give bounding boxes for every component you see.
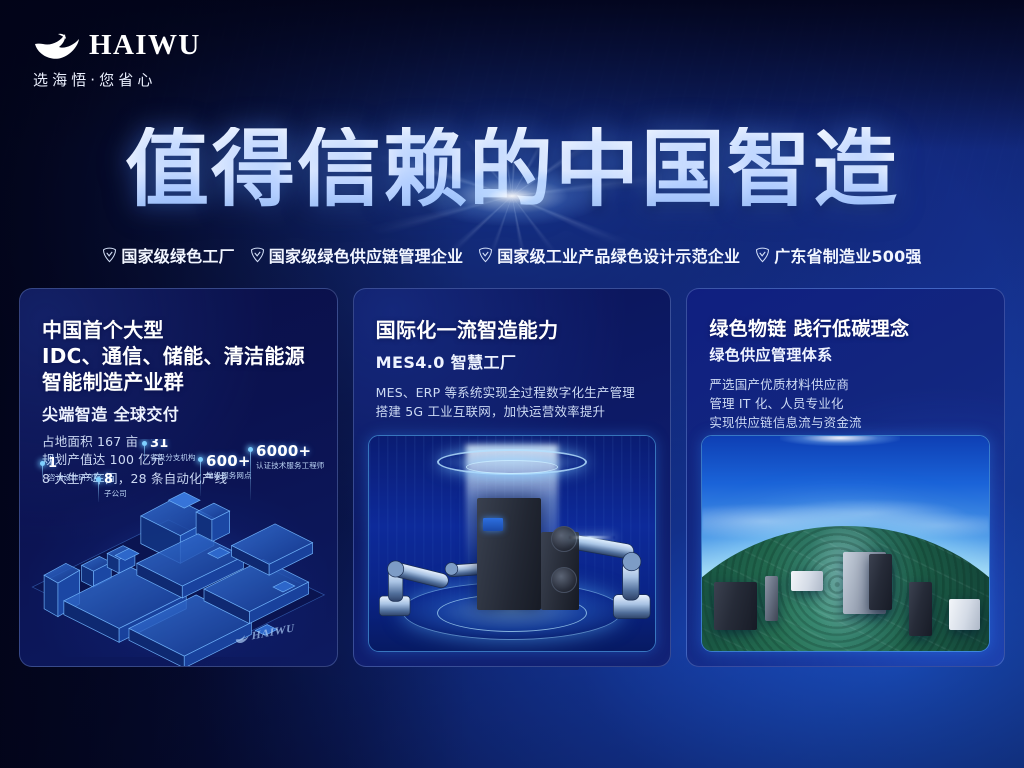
card-title-line: 国际化一流智造能力: [376, 317, 649, 343]
equipment-unit: [714, 582, 757, 629]
shield-check-icon: [478, 247, 493, 263]
node-stem: [200, 462, 201, 496]
node-caption: 子公司: [104, 488, 127, 499]
brand-slogan: 选海悟·您省心: [33, 69, 201, 90]
node-stem: [98, 482, 99, 502]
card-title-line: IDC、通信、储能、清洁能源: [42, 343, 315, 369]
node-caption: 认证技术服务工程师: [256, 460, 324, 471]
node-number: 8: [104, 472, 113, 487]
node-stem: [144, 446, 145, 464]
equipment-unit: [869, 554, 892, 610]
badge-item: 国家级工业产品绿色设计示范企业: [478, 243, 740, 267]
equipment-unit: [909, 582, 932, 636]
node-number: 600+: [206, 452, 251, 470]
badge-label: 国家级绿色工厂: [121, 243, 234, 267]
card-industrial-cluster[interactable]: 中国首个大型 IDC、通信、储能、清洁能源 智能制造产业群 尖端智造 全球交付 …: [19, 288, 338, 667]
card-subtitle: MES4.0 智慧工厂: [376, 352, 649, 374]
equipment-unit: [791, 571, 823, 590]
card-body-line: 管理 IT 化、人员专业化: [709, 394, 982, 413]
hero-title-block: 值得信赖的中国智造: [0, 127, 1024, 211]
card-title-line: 中国首个大型: [42, 317, 315, 343]
card-subtitle: 绿色供应管理体系: [709, 345, 982, 366]
badge-label: 国家级工业产品绿色设计示范企业: [497, 243, 740, 267]
page-title: 值得信赖的中国智造: [125, 127, 899, 211]
certification-badge-row: 国家级绿色工厂 国家级绿色供应链管理企业 国家级工业产品绿色设计示范企业 广东省…: [0, 243, 1024, 267]
brand-name: HAIWU: [89, 31, 201, 60]
node-number: 31: [150, 439, 169, 451]
badge-item: 广东省制造业500强: [755, 243, 921, 267]
card-title-line: 智能制造产业群: [42, 369, 315, 395]
card-body: MES、ERP 等系统实现全过程数字化生产管理 搭建 5G 工业互联网，加快运营…: [376, 383, 649, 422]
badge-label: 国家级绿色供应链管理企业: [269, 243, 463, 267]
card-body-line: MES、ERP 等系统实现全过程数字化生产管理: [376, 383, 649, 402]
badge-label: 广东省制造业500强: [774, 243, 921, 267]
card-smart-manufacturing[interactable]: 国际化一流智造能力 MES4.0 智慧工厂 MES、ERP 等系统实现全过程数字…: [353, 288, 672, 667]
card-green-supply-chain[interactable]: 绿色物链 践行低碳理念 绿色供应管理体系 严选国产优质材料供应商 管理 IT 化…: [686, 288, 1005, 667]
node-caption: 省级分支机构: [150, 452, 196, 463]
welding-spark: [569, 536, 615, 539]
shield-check-icon: [102, 247, 117, 263]
node-caption: 咨询设计研究院: [48, 472, 101, 483]
haiwu-leaf-mark-icon: [33, 30, 80, 61]
cabinet-fan-icon: [551, 567, 577, 593]
node-caption: 地级服务网点: [206, 470, 252, 481]
logo-row: HAIWU: [33, 30, 201, 61]
photo-earth-curve-equipment: [701, 435, 990, 652]
card-body-line: 搭建 5G 工业互联网，加快运营效率提升: [376, 402, 649, 421]
haiwu-leaf-mark-icon: [234, 632, 249, 644]
equipment-unit: [765, 576, 778, 621]
node-number: 1: [48, 456, 57, 471]
node-number: 6000+: [256, 442, 311, 460]
ups-cabinet-main: [477, 498, 541, 610]
shield-check-icon: [755, 247, 770, 263]
badge-item: 国家级绿色工厂: [102, 243, 234, 267]
node-stem: [42, 466, 43, 482]
card-subtitle: 尖端智造 全球交付: [42, 404, 315, 426]
card-body-line: 实现供应链信息流与资金流: [709, 413, 982, 432]
ceiling-ring-inner: [466, 460, 558, 474]
badge-item: 国家级绿色供应链管理企业: [250, 243, 463, 267]
equipment-unit: [949, 599, 981, 629]
card-title-line: 绿色物链 践行低碳理念: [709, 317, 982, 342]
feature-card-row: 中国首个大型 IDC、通信、储能、清洁能源 智能制造产业群 尖端智造 全球交付 …: [19, 288, 1005, 667]
top-light-flare: [780, 435, 900, 446]
photo-robot-arms-ups-cabinet: [368, 435, 657, 652]
isometric-factory-map: 1 咨询设计研究院 8 子公司 31 省级分支机构 600+ 地级服务网点: [20, 439, 337, 666]
node-stem: [250, 452, 251, 500]
shield-check-icon: [250, 247, 265, 263]
card-body-line: 严选国产优质材料供应商: [709, 375, 982, 394]
brand-logo: HAIWU 选海悟·您省心: [33, 30, 201, 90]
